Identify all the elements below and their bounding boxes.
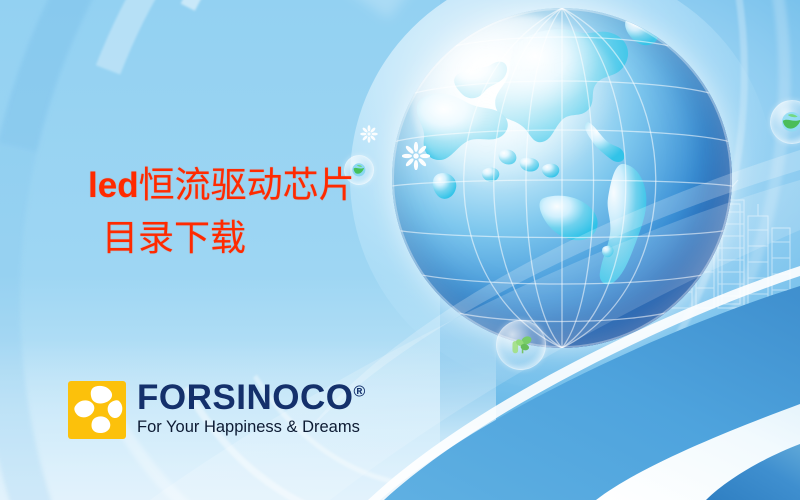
logo-text-block: FORSINOCO® For Your Happiness & Dreams	[137, 381, 366, 436]
bubble-leaf-icon	[496, 320, 546, 370]
brand-logo: FORSINOCO® For Your Happiness & Dreams	[68, 381, 366, 439]
promotional-banner: led恒流驱动芯片 目录下载 FORSINOCO® For Your Happi…	[0, 0, 800, 500]
headline-line-1: led恒流驱动芯片	[88, 162, 355, 209]
headline-cjk-phrase: 恒流驱动芯片	[139, 165, 355, 205]
flower-sparkle-small	[360, 125, 378, 148]
headline-led-word: led	[88, 166, 139, 205]
headline-line-2: 目录下载	[102, 215, 355, 261]
headline-text: led恒流驱动芯片 目录下载	[88, 162, 355, 261]
globe-icon	[392, 8, 732, 348]
globe-sphere	[392, 8, 732, 348]
flower-sparkle-large	[402, 142, 430, 175]
registered-trademark-icon: ®	[353, 383, 365, 400]
logo-name-text: FORSINOCO	[137, 378, 353, 417]
four-petal-flower-icon	[68, 381, 126, 439]
logo-tagline: For Your Happiness & Dreams	[137, 418, 366, 436]
logo-wordmark: FORSINOCO®	[137, 381, 366, 415]
green-sprout-icon	[508, 332, 535, 359]
mini-globe-icon	[780, 110, 800, 134]
globe-rim	[392, 8, 732, 348]
